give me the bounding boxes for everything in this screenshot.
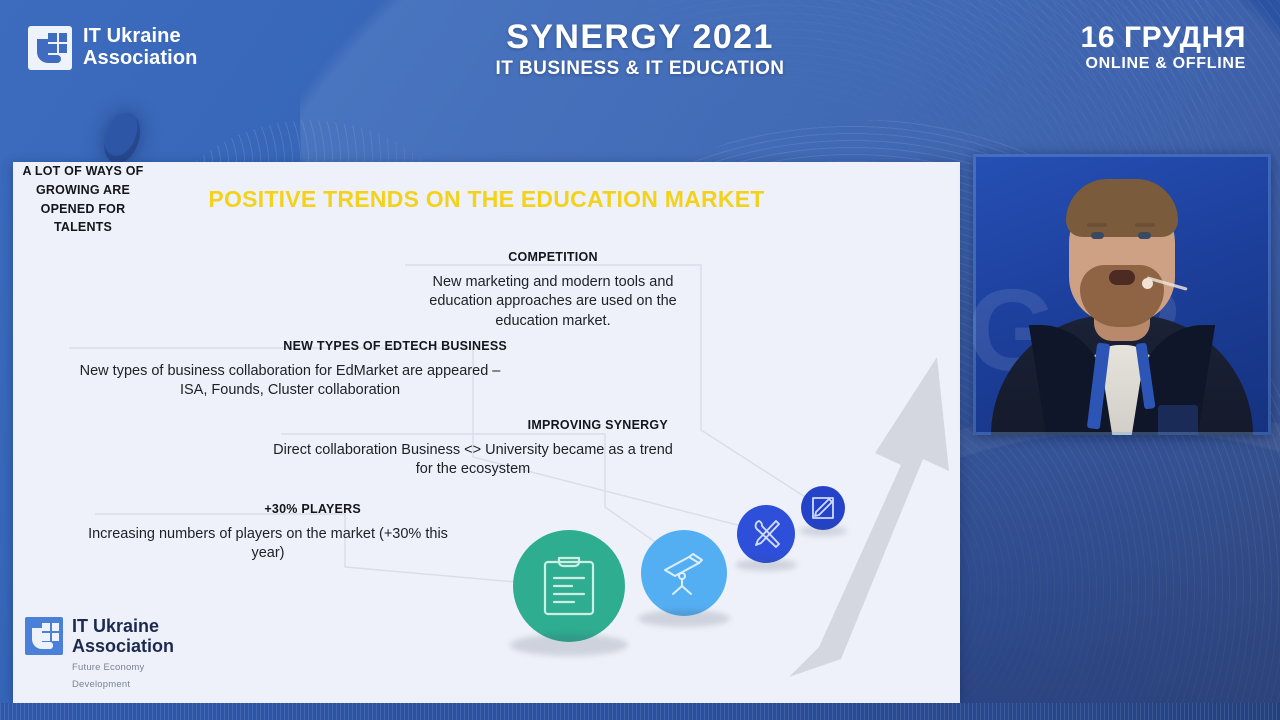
- footer-strip: [0, 703, 1280, 720]
- pencil-edit-square-icon: [810, 495, 836, 521]
- trend-body-synergy: Direct collaboration Business <> Univers…: [273, 441, 673, 480]
- slide-panel: POSITIVE TRENDS ON THE EDUCATION MARKET …: [13, 162, 960, 703]
- trend-caption-synergy: IMPROVING SYNERGY: [273, 418, 673, 432]
- trend-body-players: Increasing numbers of players on the mar…: [88, 525, 448, 564]
- speaker-video-tile[interactable]: G 2: [973, 154, 1271, 435]
- node-clipboard[interactable]: [513, 530, 625, 642]
- trend-block-competition: COMPETITION New marketing and modern too…: [403, 250, 703, 331]
- trend-block-synergy: IMPROVING SYNERGY Direct collaboration B…: [273, 418, 673, 480]
- trend-body-edtech: New types of business collaboration for …: [65, 362, 515, 401]
- presentation-stream: IT Ukraine Association SYNERGY 2021 IT B…: [0, 0, 1280, 720]
- slide-footer-tagline-line1: Future Economy: [72, 662, 174, 674]
- event-format: ONLINE & OFFLINE: [1081, 55, 1246, 73]
- event-date-block: 16 ГРУДНЯ ONLINE & OFFLINE: [1081, 22, 1246, 73]
- node-tools[interactable]: [737, 505, 795, 563]
- clipboard-document-icon: [541, 555, 597, 617]
- it-ukraine-logo-icon: [25, 617, 63, 655]
- trend-body-competition: New marketing and modern tools and educa…: [403, 273, 703, 331]
- node-shadow: [799, 526, 847, 536]
- slide-footer-logo-line2: Association: [72, 637, 174, 656]
- trend-caption-competition: COMPETITION: [403, 250, 703, 264]
- slide-footer-logo-text: IT Ukraine Association Future Economy De…: [72, 617, 174, 691]
- trend-block-players: +30% PLAYERS Increasing numbers of playe…: [88, 502, 448, 564]
- trend-caption-players: +30% PLAYERS: [88, 502, 448, 516]
- event-header: IT Ukraine Association SYNERGY 2021 IT B…: [0, 0, 1280, 106]
- wrench-pencil-tools-icon: [749, 517, 783, 551]
- node-telescope[interactable]: [641, 530, 727, 616]
- event-date: 16 ГРУДНЯ: [1081, 22, 1246, 54]
- trend-block-edtech: NEW TYPES OF EDTECH BUSINESS New types o…: [65, 339, 515, 401]
- telescope-icon: [659, 548, 709, 598]
- trend-caption-edtech: NEW TYPES OF EDTECH BUSINESS: [65, 339, 515, 353]
- node-shadow: [638, 610, 730, 627]
- node-edit[interactable]: [801, 486, 845, 530]
- slide-footer-logo: IT Ukraine Association Future Economy De…: [25, 617, 174, 691]
- slide-footer-tagline-line2: Development: [72, 679, 174, 691]
- background-blob: [98, 108, 146, 168]
- slide-footer-logo-line1: IT Ukraine: [72, 617, 174, 636]
- node-shadow: [510, 634, 628, 656]
- video-tile-border: [973, 154, 1271, 435]
- node-shadow: [735, 559, 797, 571]
